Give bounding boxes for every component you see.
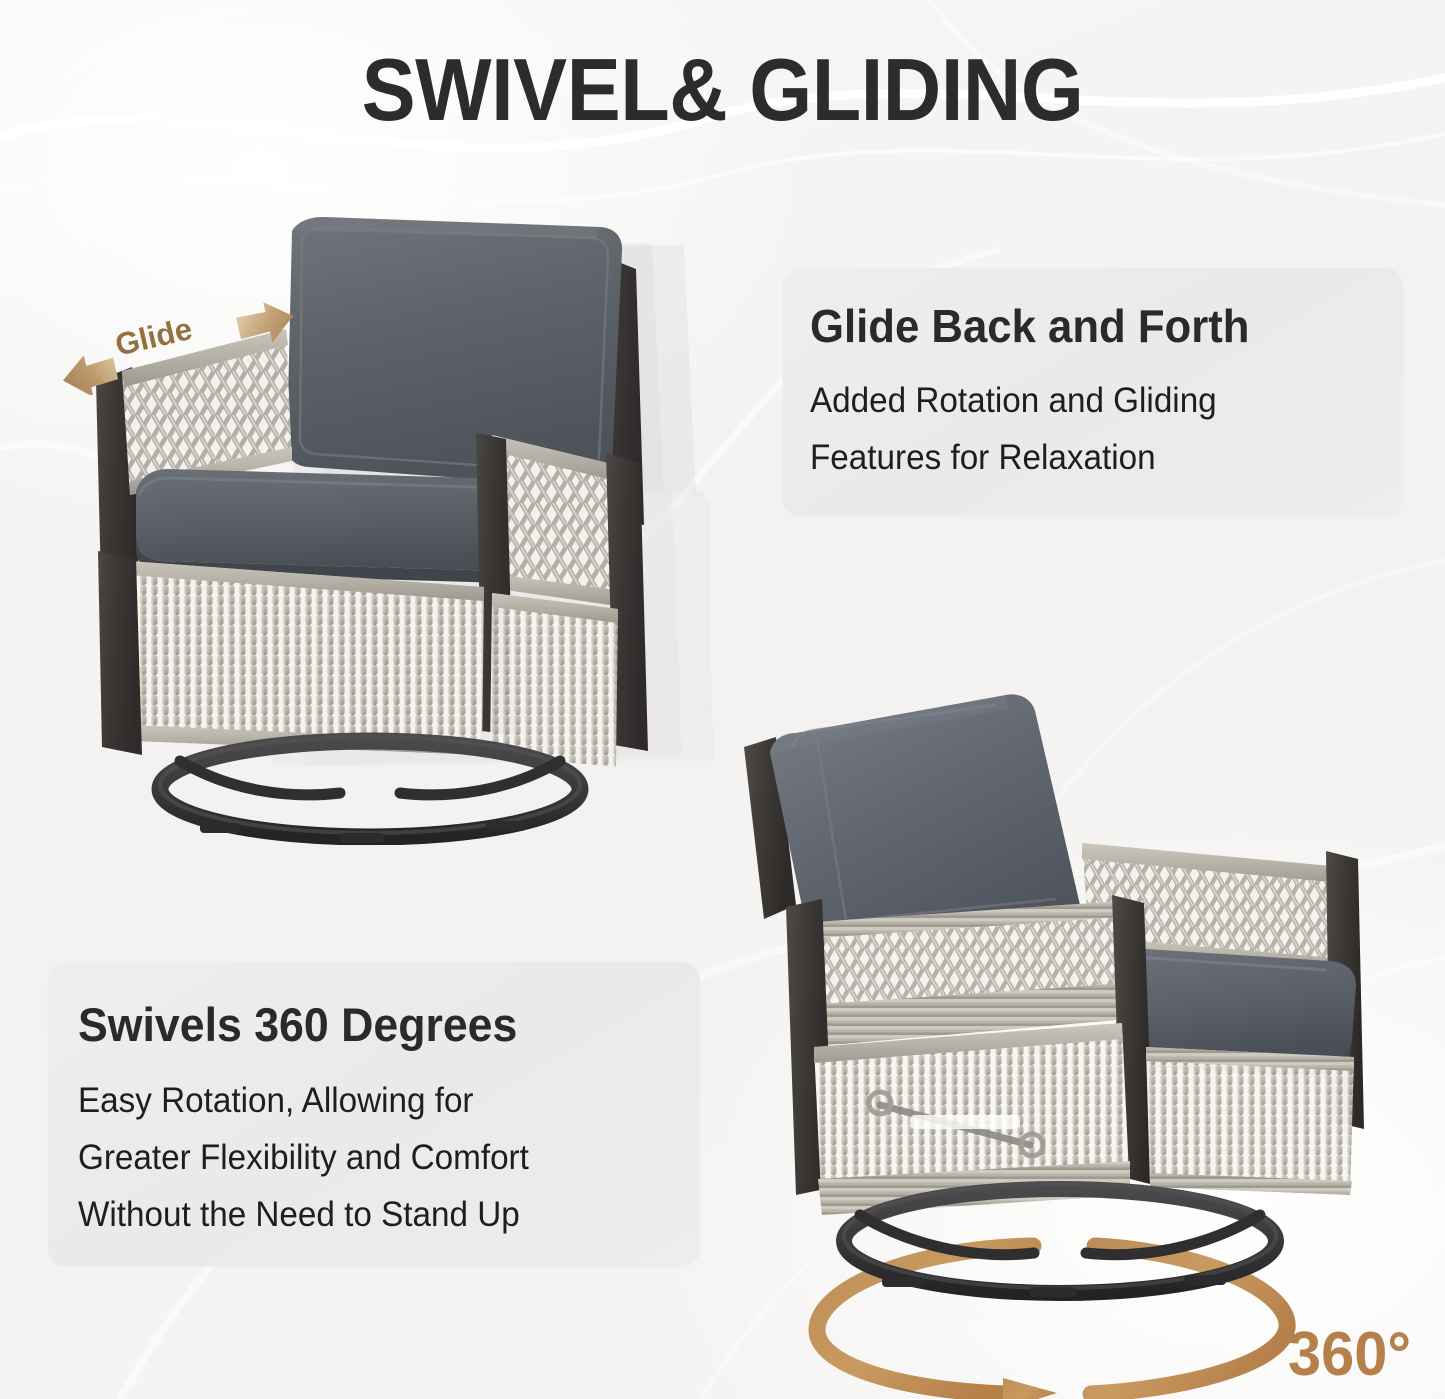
glide-annotation: Glide — [58, 300, 298, 395]
back-cushion — [287, 217, 622, 487]
callout-body-line: Added Rotation and Gliding — [810, 372, 1217, 429]
callout-card-glide: Glide Back and Forth Added Rotation and … — [783, 268, 1403, 516]
product-image-chair-side — [730, 675, 1370, 1315]
callout-body-line: Features for Relaxation — [810, 429, 1217, 486]
callout-title-glide: Glide Back and Forth — [810, 300, 1250, 352]
infographic-page: SWIVEL& GLIDING — [0, 0, 1445, 1399]
callout-body-glide: Added Rotation and Gliding Features for … — [810, 372, 1217, 486]
product-image-chair-front — [40, 195, 740, 845]
callout-body-line: Without the Need to Stand Up — [78, 1186, 529, 1243]
arrow-right-icon — [234, 300, 298, 349]
callout-body-swivel: Easy Rotation, Allowing for Greater Flex… — [78, 1072, 529, 1243]
right-panel-rope — [1146, 1047, 1354, 1195]
arrow-left-icon — [58, 349, 120, 395]
swivel-base — [844, 1184, 1276, 1297]
near-arm-rope — [802, 901, 1128, 1047]
page-title: SWIVEL& GLIDING — [58, 42, 1387, 138]
degrees-label: 360° — [1288, 1322, 1411, 1388]
callout-body-line: Greater Flexibility and Comfort — [78, 1129, 529, 1186]
callout-title-swivel: Swivels 360 Degrees — [78, 998, 517, 1052]
callout-body-line: Easy Rotation, Allowing for — [78, 1072, 529, 1129]
callout-card-swivel: Swivels 360 Degrees Easy Rotation, Allow… — [48, 962, 700, 1266]
